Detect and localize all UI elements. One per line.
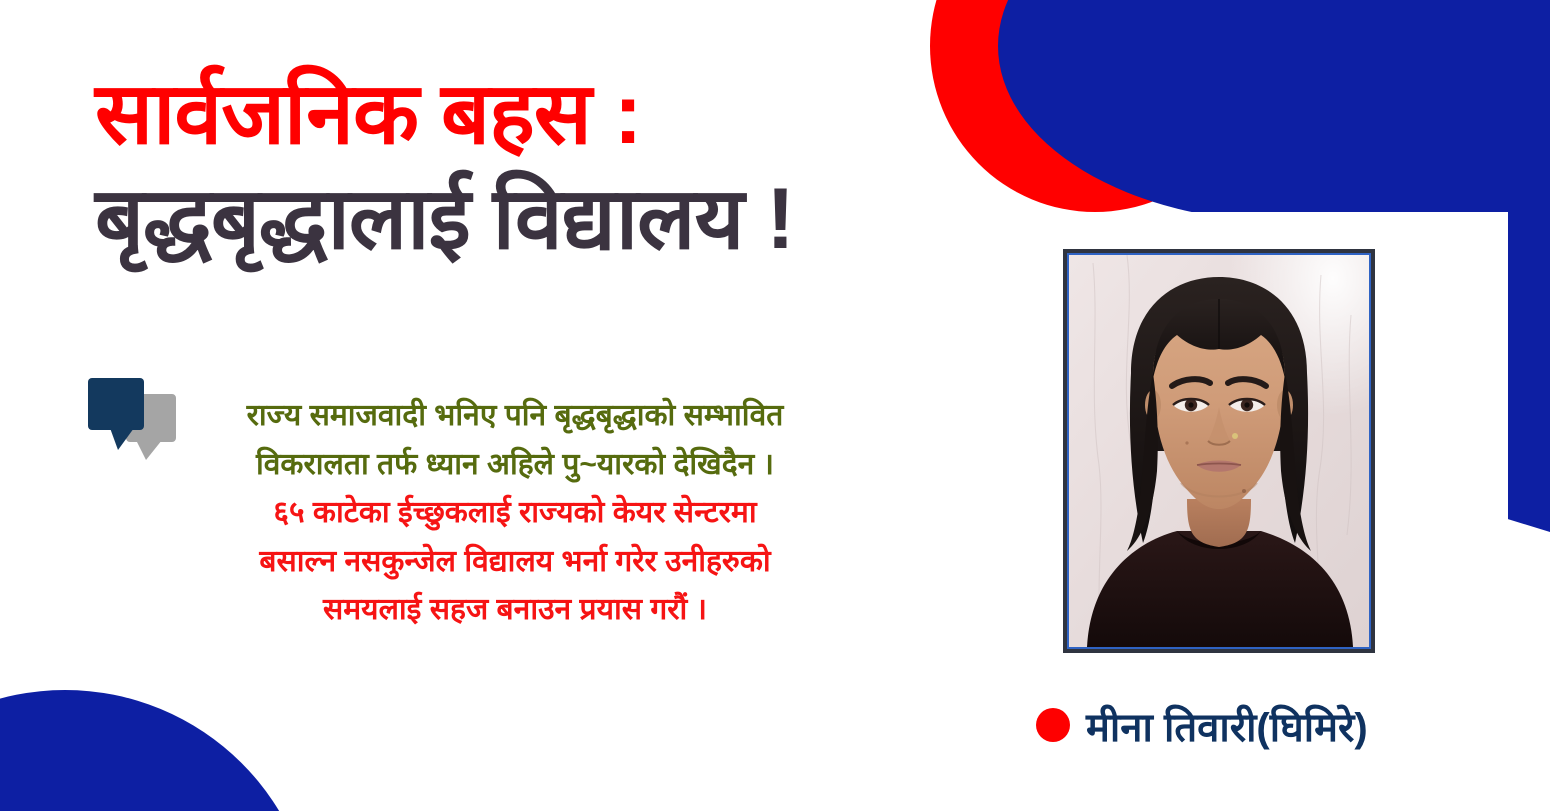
body-line-3: ६५ काटेका ईच्छुकलाई राज्यको केयर सेन्टरम…: [165, 489, 865, 538]
bullet-dot-icon: [1036, 708, 1070, 742]
body-line-2: विकरालता तर्फ ध्यान अहिले पु~यारको देखिद…: [165, 441, 865, 490]
speech-bubble-front-body: [88, 378, 144, 430]
portrait-photo: [1069, 255, 1369, 647]
portrait-illustration: [1069, 255, 1369, 647]
body-line-1: राज्य समाजवादी भनिए पनि बृद्धबृद्धाको सम…: [165, 392, 865, 441]
portrait-photo-frame: [1063, 249, 1375, 653]
headline-line-1: सार्वजनिक बहस :: [95, 62, 1055, 167]
bottom-left-blue-circle: [0, 690, 315, 811]
right-edge-blue-strip: [1508, 210, 1550, 532]
speech-bubble-front-tail: [110, 428, 134, 450]
poster-body-copy: राज्य समाजवादी भनिए पनि बृद्धबृद्धाको सम…: [165, 392, 865, 635]
speech-bubble-back-tail: [136, 440, 162, 460]
blue-blob-shape: [998, 0, 1550, 212]
poster-headline: सार्वजनिक बहस : बृद्धबृद्धालाई विद्यालय …: [95, 62, 1055, 272]
poster-canvas: सार्वजनिक बहस : बृद्धबृद्धालाई विद्यालय …: [0, 0, 1550, 811]
author-signature: मीना तिवारी(घिमिरे): [1036, 699, 1368, 751]
body-line-5: समयलाई सहज बनाउन प्रयास गरौं ।: [165, 586, 865, 635]
author-name: मीना तिवारी(घिमिरे): [1086, 698, 1368, 753]
portrait-photo-inner: [1067, 253, 1371, 649]
body-line-4: बसाल्न नसकुन्जेल विद्यालय भर्ना गरेर उनी…: [165, 538, 865, 587]
headline-line-2: बृद्धबृद्धालाई विद्यालय !: [95, 167, 1055, 272]
